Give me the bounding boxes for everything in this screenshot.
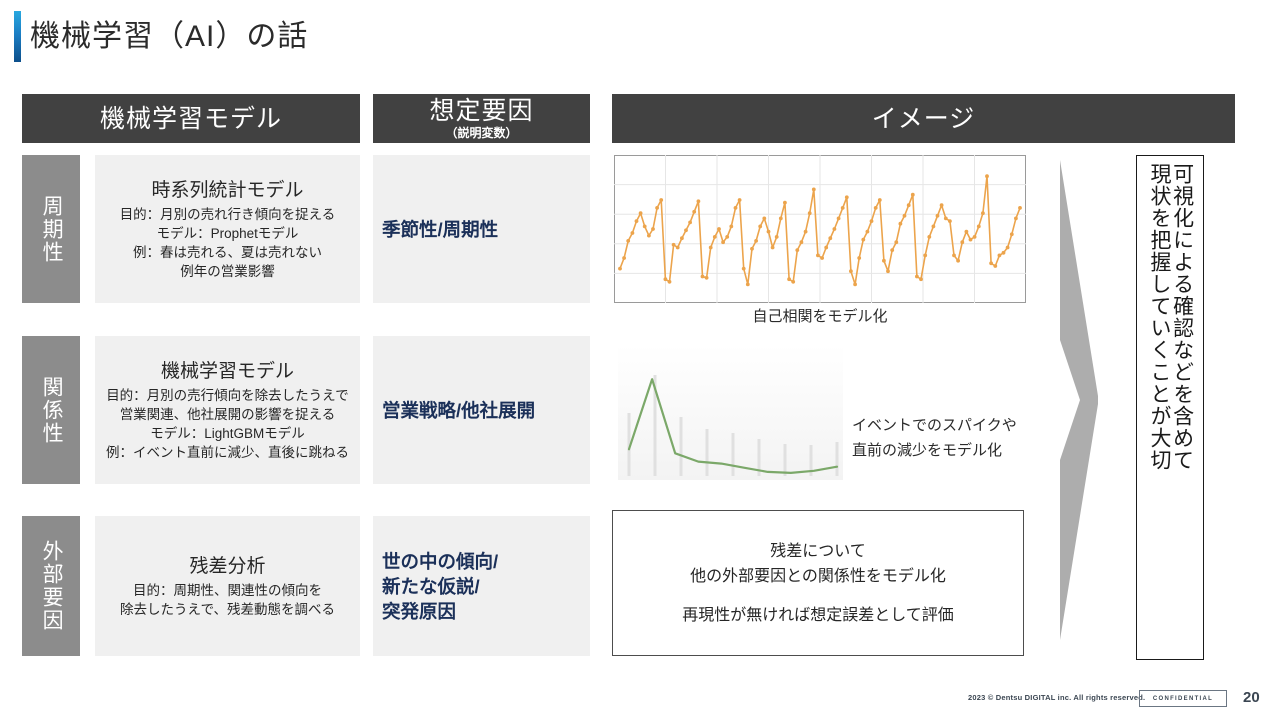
data-point xyxy=(783,201,787,205)
data-point xyxy=(622,256,626,260)
data-point xyxy=(878,198,882,202)
data-point xyxy=(643,225,647,229)
data-point xyxy=(738,198,742,202)
data-point xyxy=(771,246,775,250)
event-spike-caption-line1: イベントでのスパイクや xyxy=(852,413,1082,438)
data-point xyxy=(993,264,997,268)
data-point xyxy=(870,219,874,223)
data-point xyxy=(631,231,635,235)
convergence-arrow-svg xyxy=(1058,160,1098,640)
data-point xyxy=(894,240,898,244)
data-point xyxy=(664,277,668,281)
data-point xyxy=(767,230,771,234)
data-point xyxy=(899,222,903,226)
residual-line-2: 他の外部要因との関係性をモデル化 xyxy=(690,564,946,589)
data-point xyxy=(824,246,828,250)
model-card-residual: 残差分析 目的：周期性、関連性の傾向を 除去したうえで、残差動態を調べる xyxy=(95,516,360,656)
column-header-image: イメージ xyxy=(612,94,1235,143)
column-header-factor-sublabel: （説明変数） xyxy=(445,126,517,141)
data-point xyxy=(919,277,923,281)
data-point xyxy=(969,238,973,242)
data-point xyxy=(923,254,927,258)
data-point xyxy=(977,225,981,229)
data-point xyxy=(998,254,1002,258)
data-point xyxy=(725,235,729,239)
data-point xyxy=(762,217,766,221)
model-card-line: 例年の営業影響 xyxy=(180,262,275,281)
data-point xyxy=(828,236,832,240)
conclusion-column-2: 現状を把握していくことが大切 xyxy=(1147,163,1170,471)
page-number: 20 xyxy=(1243,689,1260,706)
data-point xyxy=(626,239,630,243)
data-point xyxy=(882,259,886,263)
data-point xyxy=(1010,232,1014,236)
data-point xyxy=(816,254,820,258)
column-header-factor: 想定要因 （説明変数） xyxy=(373,94,590,143)
event-spike-chart-caption: イベントでのスパイクや 直前の減少をモデル化 xyxy=(852,413,1082,463)
data-point xyxy=(952,254,956,258)
chart-background xyxy=(618,345,843,480)
data-point xyxy=(688,221,692,225)
row-label-external-factor: 外部要因 xyxy=(22,516,80,656)
factor-line: 季節性/周期性 xyxy=(382,217,590,242)
data-point xyxy=(750,247,754,251)
data-point xyxy=(903,214,907,218)
data-point xyxy=(940,203,944,207)
data-point xyxy=(746,283,750,287)
data-point xyxy=(647,234,651,238)
data-point xyxy=(676,246,680,250)
factor-line: 突発原因 xyxy=(382,599,590,624)
data-point xyxy=(944,217,948,221)
data-point xyxy=(1014,217,1018,221)
data-point xyxy=(820,256,824,260)
convergence-arrow-icon xyxy=(1058,160,1098,640)
data-point xyxy=(956,259,960,263)
model-card-line: 除去したうえで、残差動態を調べる xyxy=(120,600,335,619)
data-point xyxy=(672,243,676,247)
data-point xyxy=(668,280,672,284)
data-point xyxy=(729,225,733,229)
data-point xyxy=(960,240,964,244)
confidential-badge: CONFIDENTIAL xyxy=(1139,690,1227,707)
data-point xyxy=(812,188,816,192)
page-title: 機械学習（AI）の話 xyxy=(30,12,308,62)
seasonal-line-chart-svg xyxy=(614,155,1026,303)
data-point xyxy=(787,277,791,281)
column-header-model-label: 機械学習モデル xyxy=(100,104,282,134)
data-point xyxy=(915,275,919,279)
model-card-title: 残差分析 xyxy=(189,553,265,580)
model-card-line: 目的：月別の売行傾向を除去したうえで xyxy=(106,386,349,405)
data-point xyxy=(886,269,890,273)
factor-line: 世の中の傾向/ xyxy=(382,549,590,574)
data-point xyxy=(1002,251,1006,255)
conclusion-column-1: 可視化による確認などを含めて xyxy=(1170,163,1193,471)
column-header-factor-label: 想定要因 xyxy=(429,96,533,126)
data-point xyxy=(775,235,779,239)
data-point xyxy=(758,225,762,229)
data-point xyxy=(857,256,861,260)
event-spike-caption-line2: 直前の減少をモデル化 xyxy=(852,438,1082,463)
data-point xyxy=(618,267,622,271)
model-card-line: 例：イベント直前に減少、直後に跳ねる xyxy=(106,443,349,462)
data-point xyxy=(890,248,894,252)
factor-line: 新たな仮説/ xyxy=(382,574,590,599)
factor-line: 営業戦略/他社展開 xyxy=(382,398,590,423)
data-point xyxy=(985,174,989,178)
data-point xyxy=(861,238,865,242)
data-point xyxy=(655,206,659,210)
residual-text-box: 残差について 他の外部要因との関係性をモデル化 再現性が無ければ想定誤差として評… xyxy=(612,510,1024,656)
slide-canvas: 機械学習（AI）の話 機械学習モデル 想定要因 （説明変数） イメージ 周期性 … xyxy=(0,0,1280,720)
data-point xyxy=(849,269,853,273)
data-point xyxy=(795,248,799,252)
factor-cell-external: 世の中の傾向/ 新たな仮説/ 突発原因 xyxy=(373,516,590,656)
data-point xyxy=(911,193,915,197)
seasonal-line-chart xyxy=(614,155,1026,303)
factor-cell-periodicity: 季節性/周期性 xyxy=(373,155,590,303)
data-point xyxy=(721,240,725,244)
data-point xyxy=(717,227,721,231)
seasonal-chart-caption: 自己相関をモデル化 xyxy=(614,307,1026,327)
data-point xyxy=(713,235,717,239)
data-point xyxy=(651,227,655,231)
data-point xyxy=(948,219,952,223)
data-point xyxy=(874,206,878,210)
event-spike-chart xyxy=(618,345,843,480)
data-point xyxy=(635,219,639,223)
residual-line-3: 再現性が無ければ想定誤差として評価 xyxy=(682,603,954,628)
model-card-line: 目的：月別の売れ行き傾向を捉える xyxy=(120,205,336,224)
data-point xyxy=(853,283,857,287)
model-card-line: 目的：周期性、関連性の傾向を xyxy=(133,581,322,600)
row-label-relationship: 関係性 xyxy=(22,336,80,484)
data-point xyxy=(841,206,845,210)
data-point xyxy=(734,206,738,210)
data-point xyxy=(701,275,705,279)
model-card-title: 時系列統計モデル xyxy=(151,177,303,204)
data-point xyxy=(1018,206,1022,210)
data-point xyxy=(866,230,870,234)
model-card-periodicity: 時系列統計モデル 目的：月別の売れ行き傾向を捉える モデル：Prophetモデル… xyxy=(95,155,360,303)
data-point xyxy=(1006,246,1010,250)
data-point xyxy=(692,210,696,214)
model-card-line: モデル：Prophetモデル xyxy=(157,224,299,243)
conclusion-text-box: 可視化による確認などを含めて 現状を把握していくことが大切 xyxy=(1136,155,1204,660)
model-card-relationship: 機械学習モデル 目的：月別の売行傾向を除去したうえで 営業関連、他社展開の影響を… xyxy=(95,336,360,484)
model-card-line: 例：春は売れる、夏は売れない xyxy=(133,243,322,262)
data-point xyxy=(791,280,795,284)
data-point xyxy=(754,239,758,243)
data-point xyxy=(837,217,841,221)
data-point xyxy=(973,235,977,239)
data-point xyxy=(804,230,808,234)
column-header-image-label: イメージ xyxy=(872,104,976,134)
data-point xyxy=(639,211,643,215)
data-point xyxy=(705,276,709,280)
data-point xyxy=(659,198,663,202)
data-point xyxy=(927,235,931,239)
data-point xyxy=(684,228,688,232)
data-point xyxy=(981,211,985,215)
data-point xyxy=(845,195,849,199)
data-point xyxy=(742,267,746,271)
model-card-title: 機械学習モデル xyxy=(161,358,294,385)
data-point xyxy=(709,246,713,250)
model-card-line: 営業関連、他社展開の影響を捉える xyxy=(120,405,336,424)
data-point xyxy=(989,261,993,265)
data-point xyxy=(680,236,684,240)
data-point xyxy=(907,203,911,207)
data-point xyxy=(779,217,783,221)
row-label-periodicity: 周期性 xyxy=(22,155,80,303)
arrow-shape xyxy=(1060,160,1098,640)
footer-copyright: 2023 © Dentsu DIGITAL inc. All rights re… xyxy=(968,693,1145,702)
factor-cell-relationship: 営業戦略/他社展開 xyxy=(373,336,590,484)
data-point xyxy=(936,214,940,218)
data-point xyxy=(808,211,812,215)
model-card-line: モデル：LightGBMモデル xyxy=(150,424,305,443)
column-header-model: 機械学習モデル xyxy=(22,94,360,143)
data-point xyxy=(833,227,837,231)
data-point xyxy=(800,240,804,244)
data-point xyxy=(965,230,969,234)
data-point xyxy=(697,199,701,203)
data-point xyxy=(932,225,936,229)
event-spike-chart-svg xyxy=(618,345,843,480)
title-accent-bar xyxy=(14,11,21,62)
residual-line-1: 残差について xyxy=(770,539,866,564)
